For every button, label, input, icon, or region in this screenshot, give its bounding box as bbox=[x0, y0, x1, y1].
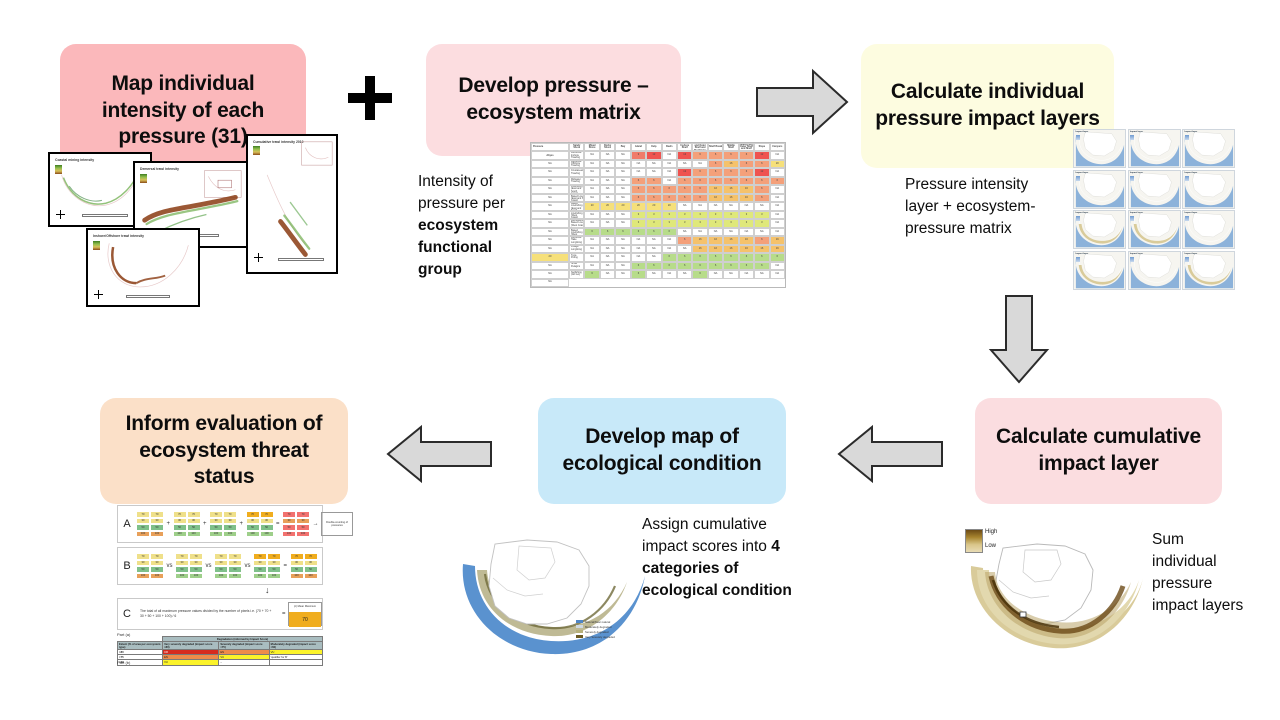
mini-grid-cell: 100 bbox=[228, 573, 242, 580]
coastline-graphic bbox=[248, 136, 336, 272]
impact-layer-label: Impact layer bbox=[1185, 212, 1198, 214]
matrix-cell: 6 bbox=[692, 168, 707, 176]
impact-layer-thumbnail: Impact layer bbox=[1128, 170, 1181, 209]
matrix-cell: NA bbox=[600, 194, 615, 202]
matrix-cell: NA bbox=[770, 219, 785, 227]
mini-grid-cell: 100 bbox=[189, 573, 203, 580]
matrix-cell: 3 bbox=[723, 219, 738, 227]
caption-individual: Pressure intensity layer + ecosystem-pre… bbox=[905, 174, 1065, 240]
impact-layer-label: Impact layer bbox=[1076, 131, 1089, 133]
table-status-cell: – bbox=[219, 660, 269, 665]
matrix-cell: NA bbox=[770, 262, 785, 270]
matrix-cell: 6 bbox=[662, 194, 677, 202]
mini-grid-cell: 100 bbox=[214, 573, 228, 580]
matrix-cell: 6 bbox=[677, 236, 692, 244]
matrix-cell: 6 bbox=[723, 262, 738, 270]
matrix-cell: NA bbox=[646, 160, 661, 168]
method-panel-a: A 707030305050100100+707030305050100100+… bbox=[117, 505, 323, 543]
matrix-cell: NA bbox=[662, 270, 677, 278]
matrix-cell: NA bbox=[584, 185, 599, 193]
condition-legend-label: Moderately degraded bbox=[585, 625, 611, 629]
matrix-cell: NA bbox=[646, 245, 661, 253]
matrix-cell: 3 bbox=[708, 219, 723, 227]
condition-legend-label: Severely degraded bbox=[585, 630, 608, 634]
condition-legend-swatch bbox=[576, 625, 583, 628]
threat-status-method-figure: A 707030305050100100+707030305050100100+… bbox=[117, 505, 323, 662]
table-status-cell: VU bbox=[163, 660, 219, 665]
matrix-cell: 9 bbox=[631, 151, 646, 159]
matrix-cell: 6 bbox=[662, 185, 677, 193]
matrix-cell: 16 bbox=[739, 236, 754, 244]
impact-layer-legend bbox=[1130, 176, 1134, 181]
matrix-cell: 16 bbox=[692, 236, 707, 244]
matrix-cell: 20 bbox=[615, 202, 630, 210]
matrix-cell: 6 bbox=[677, 194, 692, 202]
matrix-cell: NA bbox=[531, 168, 569, 176]
matrix-cell: NA bbox=[584, 219, 599, 227]
caption-individual-plain: Pressure intensity layer + ecosystem-pre… bbox=[905, 176, 1036, 237]
impact-layer-legend bbox=[1185, 176, 1189, 181]
matrix-cell: 6 bbox=[646, 185, 661, 193]
impact-layer-legend bbox=[1076, 135, 1080, 140]
matrix-cell: NA bbox=[584, 253, 599, 261]
mini-grid-cell: 100 bbox=[304, 573, 318, 580]
matrix-cell: 6 bbox=[754, 160, 769, 168]
mini-grid-cell: 100 bbox=[253, 573, 267, 580]
matrix-cell: 6 bbox=[770, 177, 785, 185]
mini-grid-cell: 100 bbox=[173, 531, 187, 538]
matrix-column-header: Hard Muddy and Outer Shelf and Shelf Edg… bbox=[739, 143, 754, 151]
matrix-cell: NA bbox=[723, 270, 738, 278]
matrix-cell: NA bbox=[677, 160, 692, 168]
matrix-cell: 16 bbox=[723, 194, 738, 202]
condition-legend-row: Very Severely degraded bbox=[576, 634, 640, 639]
matrix-cell: 6 bbox=[662, 262, 677, 270]
matrix-cell: NA bbox=[531, 236, 569, 244]
matrix-cell: NA bbox=[631, 245, 646, 253]
matrix-row-header: Commercial Linefishing (West Coast) bbox=[569, 211, 584, 219]
matrix-cell: 20 bbox=[662, 202, 677, 210]
matrix-cell: 16 bbox=[723, 185, 738, 193]
matrix-cell: NA bbox=[531, 160, 569, 168]
step-label-inform-evaluation-of-ecosystem-threat-status: Inform evaluation of ecosystem threat st… bbox=[114, 411, 334, 492]
matrix-cell: NA bbox=[615, 177, 630, 185]
scale-bar bbox=[126, 295, 170, 298]
matrix-cell: NA bbox=[600, 177, 615, 185]
matrix-cell: NA bbox=[531, 270, 569, 278]
cumulative-grid: 707030305050100100 bbox=[282, 511, 310, 537]
matrix-cell: NA bbox=[531, 194, 569, 202]
maximum-grid: 707030305050100100 bbox=[290, 553, 318, 579]
matrix-cell: 16 bbox=[739, 185, 754, 193]
north-arrow-icon bbox=[94, 290, 103, 299]
matrix-cell: NA bbox=[770, 185, 785, 193]
matrix-cell: NA bbox=[531, 228, 569, 236]
impact-layer-legend bbox=[1185, 216, 1189, 221]
step-box-calculate-cumulative-impact-layer[interactable]: Calculate cumulative impact layer bbox=[975, 398, 1222, 504]
matrix-cell: 6 bbox=[646, 177, 661, 185]
matrix-cell: NA bbox=[677, 202, 692, 210]
matrix-cell: NA bbox=[584, 236, 599, 244]
method-panel-b: B 707030305050100100vs707030305050100100… bbox=[117, 547, 323, 585]
mini-grid-cell: 100 bbox=[150, 531, 164, 538]
matrix-cell: 3 bbox=[646, 211, 661, 219]
matrix-cell: NA bbox=[584, 262, 599, 270]
matrix-cell: 6 bbox=[692, 194, 707, 202]
matrix-corner-header: Pressure bbox=[531, 143, 569, 151]
matrix-cell: 3 bbox=[677, 211, 692, 219]
matrix-cell: 3 bbox=[646, 219, 661, 227]
matrix-cell: NA bbox=[631, 168, 646, 176]
matrix-cell: NA bbox=[754, 228, 769, 236]
table-corner-header: Extent (% of area per ecosystem type) bbox=[118, 642, 163, 650]
panel-b-operator: vs bbox=[164, 563, 175, 569]
impact-layer-thumbnail-grid: Impact layerImpact layerImpact layerImpa… bbox=[1073, 129, 1235, 290]
matrix-cell: 6 bbox=[677, 185, 692, 193]
impact-layer-thumbnail: Impact layer bbox=[1128, 129, 1181, 168]
matrix-cell: 3 bbox=[662, 211, 677, 219]
caption-cumulative-plain: Sum individual pressure impact layers bbox=[1152, 531, 1243, 614]
panel-letter-a: A bbox=[118, 518, 136, 530]
matrix-cell: NA bbox=[646, 236, 661, 244]
impact-layer-legend bbox=[1076, 216, 1080, 221]
pressure-grid-b2: 707030305050100100 bbox=[175, 553, 203, 579]
matrix-cell: 6 bbox=[631, 262, 646, 270]
matrix-cell: NA bbox=[770, 194, 785, 202]
matrix-cell: NA bbox=[615, 194, 630, 202]
matrix-cell: 3 bbox=[662, 219, 677, 227]
matrix-cell: NA bbox=[723, 228, 738, 236]
panel-b-operator: = bbox=[281, 563, 290, 569]
matrix-cell: 6 bbox=[708, 253, 723, 261]
impact-layer-thumbnail: Impact layer bbox=[1128, 210, 1181, 249]
matrix-cell: 6 bbox=[708, 151, 723, 159]
matrix-cell: NA bbox=[770, 202, 785, 210]
matrix-cell: NA bbox=[631, 236, 646, 244]
mini-grid-cell: 100 bbox=[290, 573, 304, 580]
matrix-cell: 12 bbox=[754, 151, 769, 159]
condition-legend-swatch bbox=[576, 635, 583, 638]
matrix-cell: NA bbox=[770, 151, 785, 159]
matrix-row-header: Pelagic Longlining bbox=[569, 245, 584, 253]
matrix-cell: 6 bbox=[754, 185, 769, 193]
caption-matrix-plain: Intensity of pressure per bbox=[418, 173, 505, 212]
matrix-column-header: Mixed Shore bbox=[584, 143, 599, 151]
panel-letter-b: B bbox=[118, 560, 136, 572]
matrix-cell: NA bbox=[708, 270, 723, 278]
panel-a-output-note: Double-counting of pressures bbox=[321, 512, 353, 536]
matrix-column-header: Canyons bbox=[770, 143, 785, 151]
matrix-cell: 16 bbox=[708, 194, 723, 202]
matrix-column-header: Inshore Shelf bbox=[677, 143, 692, 151]
matrix-cell: NA bbox=[662, 177, 677, 185]
matrix-cell: 6 bbox=[754, 177, 769, 185]
matrix-cell: NA bbox=[708, 228, 723, 236]
matrix-row-header: Recreational/Boat-Based Linefishing (Wes… bbox=[569, 219, 584, 227]
matrix-cell: NA bbox=[615, 245, 630, 253]
mini-grid-cell: 100 bbox=[282, 531, 296, 538]
matrix-cell: NA bbox=[662, 245, 677, 253]
condition-legend-swatch bbox=[576, 620, 583, 623]
step-box-develop-map-of-ecological-condition[interactable]: Develop map of ecological condition bbox=[538, 398, 786, 504]
matrix-cell: 16 bbox=[739, 194, 754, 202]
pressure-grid-4: 707030305050100100 bbox=[246, 511, 274, 537]
panel-b-operator: vs bbox=[203, 563, 214, 569]
panel-a-result-arrow: → bbox=[310, 521, 321, 527]
pressure-grid-3: 707030305050100100 bbox=[209, 511, 237, 537]
impact-layer-legend bbox=[1076, 257, 1080, 262]
table-row: Extent (% of area per ecosystem type)Ver… bbox=[118, 642, 323, 650]
pressure-map-thumbnail-3: Inshore/Offshore trawl intensity bbox=[86, 228, 200, 307]
matrix-cell: 6 bbox=[631, 194, 646, 202]
coastline-graphic bbox=[88, 230, 198, 305]
matrix-cell: NA bbox=[692, 202, 707, 210]
matrix-column-header: Lithifieds and Outer Shelf and Shelf Edg… bbox=[692, 143, 707, 151]
matrix-cell: NA bbox=[615, 160, 630, 168]
matrix-cell: 6 bbox=[584, 228, 599, 236]
caption-matrix-bold: ecosystem functional group bbox=[418, 217, 498, 278]
matrix-row-header: Demersal Offshore Trawling bbox=[569, 160, 584, 168]
matrix-cell: 20 bbox=[600, 202, 615, 210]
matrix-cell: NA bbox=[646, 253, 661, 261]
arrow-left-to-inform-icon bbox=[385, 424, 493, 484]
matrix-cell: NA bbox=[754, 202, 769, 210]
matrix-cell: 6 bbox=[662, 228, 677, 236]
matrix-cell: 16 bbox=[708, 185, 723, 193]
matrix-cell: 6 bbox=[708, 262, 723, 270]
matrix-cell: 12 bbox=[677, 168, 692, 176]
legend-gradient-swatch bbox=[965, 529, 983, 553]
panel-a-operator: + bbox=[164, 521, 173, 527]
matrix-cell: 6 bbox=[646, 194, 661, 202]
method-panel-c: C The total of all maximum pressure valu… bbox=[117, 598, 323, 630]
matrix-cell: NA bbox=[531, 202, 569, 210]
matrix-cell: 6 bbox=[631, 270, 646, 278]
step-box-inform-evaluation-of-ecosystem-threat-status[interactable]: Inform evaluation of ecosystem threat st… bbox=[100, 398, 348, 504]
matrix-cell: 16 bbox=[708, 245, 723, 253]
matrix-cell: 6 bbox=[677, 262, 692, 270]
impact-layer-thumbnail: Impact layer bbox=[1073, 210, 1126, 249]
matrix-column-header: Rocky Shore bbox=[600, 143, 615, 151]
cumulative-map-legend: High Low bbox=[965, 529, 1011, 555]
pressure-grid-b1: 707030305050100100 bbox=[136, 553, 164, 579]
matrix-column-header: Middle Shelf bbox=[723, 143, 738, 151]
matrix-cell: NA bbox=[584, 194, 599, 202]
matrix-cell: 6 bbox=[770, 253, 785, 261]
impact-layer-thumbnail: Impact layer bbox=[1182, 170, 1235, 209]
matrix-cell: NA bbox=[600, 245, 615, 253]
caption-matrix: Intensity of pressure per ecosystem func… bbox=[418, 171, 538, 281]
scale-bar bbox=[82, 214, 128, 217]
matrix-cell: 3 bbox=[631, 211, 646, 219]
matrix-column-header: Slope bbox=[754, 143, 769, 151]
matrix-cell: NA bbox=[615, 185, 630, 193]
matrix-cell: 6 bbox=[754, 236, 769, 244]
impact-layer-label: Impact layer bbox=[1130, 172, 1143, 174]
matrix-cell: NA bbox=[600, 253, 615, 261]
matrix-cell: NA bbox=[615, 253, 630, 261]
matrix-cell: 6 bbox=[723, 168, 738, 176]
impact-layer-label: Impact layer bbox=[1076, 172, 1089, 174]
matrix-cell: 6 bbox=[754, 194, 769, 202]
matrix-row-header: Small Pelagics bbox=[569, 262, 584, 270]
step-label-develop-map-of-ecological-condition: Develop map of ecological condition bbox=[552, 424, 772, 478]
matrix-cell: 16 bbox=[754, 245, 769, 253]
matrix-cell: 12 bbox=[646, 151, 661, 159]
matrix-cell: 6 bbox=[754, 253, 769, 261]
impact-layer-legend bbox=[1185, 135, 1189, 140]
matrix-cell: 3 bbox=[754, 219, 769, 227]
panel-a-operator: + bbox=[237, 521, 246, 527]
matrix-cell: NA bbox=[584, 177, 599, 185]
impact-layer-label: Impact layer bbox=[1185, 172, 1198, 174]
matrix-cell: NA bbox=[600, 270, 615, 278]
matrix-cell: NA bbox=[662, 236, 677, 244]
mini-grid-cell: 100 bbox=[187, 531, 201, 538]
legend-label-high: High bbox=[985, 529, 997, 535]
matrix-column-header: Sandy Shore bbox=[569, 143, 584, 151]
matrix-cell: 6 bbox=[692, 185, 707, 193]
matrix-cell: NA bbox=[646, 270, 661, 278]
panel-c-text: The total of all maximum pressure values… bbox=[136, 609, 279, 618]
matrix-cell: NA bbox=[615, 236, 630, 244]
matrix-cell: 6 bbox=[615, 228, 630, 236]
north-arrow-icon bbox=[254, 253, 263, 262]
threat-status-criteria-table: Degradation (informed by Impact Score)Ex… bbox=[117, 636, 323, 666]
matrix-cell: NA bbox=[708, 202, 723, 210]
matrix-row-header: Recreational/Boat-Based Linefishing (Eas… bbox=[569, 194, 584, 202]
matrix-cell: NA bbox=[584, 168, 599, 176]
matrix-cell: 6 bbox=[739, 262, 754, 270]
matrix-cell: NA bbox=[770, 270, 785, 278]
pressure-grid-b4: 707030305050100100 bbox=[253, 553, 281, 579]
matrix-cell: NA bbox=[600, 151, 615, 159]
matrix-column-header: Bay bbox=[615, 143, 630, 151]
matrix-cell: NA bbox=[531, 177, 569, 185]
step-label-develop-pressure-ecosystem-matrix: Develop pressure – ecosystem matrix bbox=[440, 73, 667, 127]
mini-grid-cell: 100 bbox=[136, 573, 150, 580]
pressure-map-thumbnail-4: Cumulative trawl intensity 2019 bbox=[246, 134, 338, 274]
matrix-cell: NA bbox=[600, 236, 615, 244]
matrix-cell: 3 bbox=[754, 211, 769, 219]
matrix-cell: 12 bbox=[754, 168, 769, 176]
ecological-condition-map-legend: Natural/Near naturalModerately degradedS… bbox=[576, 619, 640, 639]
matrix-cell: 6 bbox=[739, 177, 754, 185]
matrix-cell: 16 bbox=[692, 245, 707, 253]
matrix-cell: 6 bbox=[723, 151, 738, 159]
matrix-cell: 6 bbox=[708, 177, 723, 185]
matrix-cell: NA bbox=[692, 160, 707, 168]
mini-grid-cell: 100 bbox=[260, 531, 274, 538]
impact-layer-label: Impact layer bbox=[1130, 131, 1143, 133]
matrix-cell: NA bbox=[677, 228, 692, 236]
flowchart-canvas: Map individual intensity of each pressur… bbox=[0, 0, 1280, 720]
matrix-cell: NA bbox=[723, 202, 738, 210]
table-column-header: Very severely degraded (impact score >80… bbox=[163, 642, 219, 650]
matrix-row-header: Commercial Linefishing (East and South C… bbox=[569, 185, 584, 193]
matrix-cell: 20 bbox=[770, 160, 785, 168]
matrix-cell: 6 bbox=[631, 185, 646, 193]
matrix-cell: 6 bbox=[723, 177, 738, 185]
caption-condition-plain: Assign cumulative impact scores into bbox=[642, 516, 771, 555]
north-arrow-icon bbox=[56, 210, 65, 219]
pressure-ecosystem-matrix-thumbnail: PressureSandy ShoreMixed ShoreRocky Shor… bbox=[530, 142, 786, 288]
matrix-cell: NA bbox=[615, 219, 630, 227]
impact-layer-label: Impact layer bbox=[1076, 212, 1089, 214]
matrix-cell: NA bbox=[770, 168, 785, 176]
step-label-calculate-cumulative-impact-layer: Calculate cumulative impact layer bbox=[989, 424, 1208, 478]
step-label-calculate-individual-pressure-impact-layers: Calculate individual pressure impact lay… bbox=[875, 79, 1100, 133]
impact-layer-legend bbox=[1130, 257, 1134, 262]
matrix-cell: NA bbox=[531, 185, 569, 193]
mini-grid-cell: 100 bbox=[246, 531, 260, 538]
matrix-cell: NA bbox=[615, 270, 630, 278]
matrix-cell: 6 bbox=[739, 151, 754, 159]
matrix-cell: 16 bbox=[723, 236, 738, 244]
impact-layer-legend bbox=[1185, 257, 1189, 262]
matrix-cell: 6 bbox=[708, 168, 723, 176]
matrix-cell: NA bbox=[600, 219, 615, 227]
ecological-condition-map bbox=[455, 520, 650, 660]
matrix-cell: NA bbox=[584, 245, 599, 253]
matrix-cell: NA bbox=[600, 211, 615, 219]
matrix-cell: 6 bbox=[631, 177, 646, 185]
condition-legend-label: Very Severely degraded bbox=[585, 635, 615, 639]
matrix-row-header: Tuna Poling bbox=[569, 253, 584, 261]
matrix-cell: 20 bbox=[646, 202, 661, 210]
matrix-column-header: Reefs bbox=[662, 143, 677, 151]
matrix-cell: NA bbox=[531, 211, 569, 219]
matrix-cell: NA bbox=[692, 228, 707, 236]
matrix-cell: NA bbox=[739, 202, 754, 210]
matrix-cell: 6 bbox=[692, 253, 707, 261]
table-row: >60VU– bbox=[118, 660, 323, 665]
matrix-cell: 6 bbox=[692, 262, 707, 270]
matrix-cell: NA bbox=[584, 211, 599, 219]
impact-layer-thumbnail: Impact layer bbox=[1182, 210, 1235, 249]
matrix-cell: NA bbox=[531, 245, 569, 253]
matrix-cell: NA bbox=[662, 168, 677, 176]
arrow-right-to-individual-icon bbox=[755, 68, 849, 136]
matrix-cell: NA bbox=[662, 151, 677, 159]
pressure-grid-b3: 707030305050100100 bbox=[214, 553, 242, 579]
matrix-cell: NA bbox=[739, 228, 754, 236]
impact-layer-thumbnail: Impact layer bbox=[1182, 251, 1235, 290]
matrix-cell: NA bbox=[631, 160, 646, 168]
matrix-cell: 16 bbox=[723, 160, 738, 168]
impact-layer-label: Impact layer bbox=[1130, 253, 1143, 255]
matrix-cell: NA bbox=[739, 270, 754, 278]
impact-layer-legend bbox=[1076, 176, 1080, 181]
matrix-cell: 6 bbox=[692, 177, 707, 185]
matrix-row-header: Netfishing (Gill net) bbox=[569, 270, 584, 278]
matrix-cell: NA bbox=[531, 262, 569, 270]
matrix-row-header: Recreational Shore-Based Linefishing (Ea… bbox=[569, 202, 584, 210]
mini-grid-cell: 100 bbox=[296, 531, 310, 538]
matrix-cell: 3 bbox=[739, 211, 754, 219]
mini-grid-cell: 100 bbox=[150, 573, 164, 580]
matrix-cell: 16 bbox=[770, 245, 785, 253]
panel-c-operator: = bbox=[279, 611, 288, 617]
impact-layer-label: Impact layer bbox=[1130, 212, 1143, 214]
arrow-down-to-cumulative-icon bbox=[988, 294, 1050, 384]
step-box-develop-pressure-ecosystem-matrix[interactable]: Develop pressure – ecosystem matrix bbox=[426, 44, 681, 156]
matrix-row-header: Recreational Shore-Based Linefishing (We… bbox=[569, 228, 584, 236]
matrix-cell: NA bbox=[615, 168, 630, 176]
mini-grid-cell: 100 bbox=[175, 573, 189, 580]
caption-condition: Assign cumulative impact scores into 4 c… bbox=[642, 514, 807, 602]
table-column-header: Moderately degraded (impact score >60) bbox=[269, 642, 322, 650]
